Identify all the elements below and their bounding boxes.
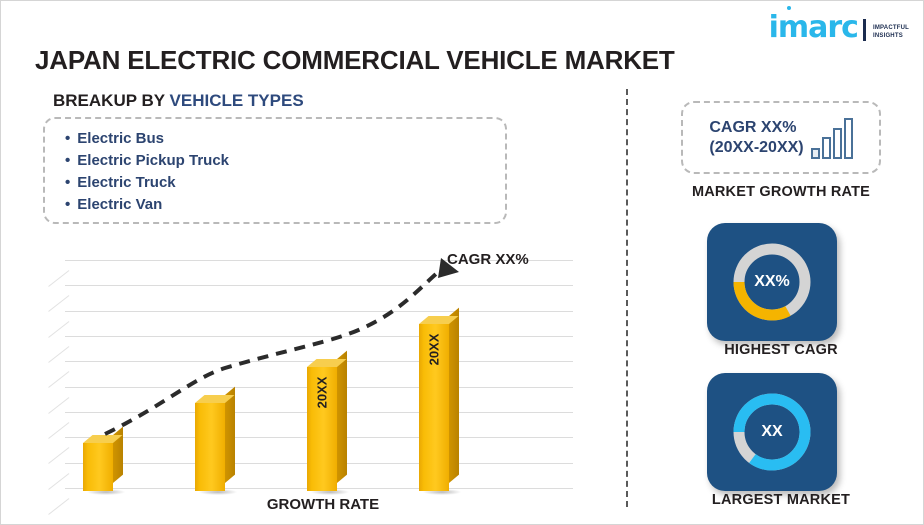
breakup-heading-plain: BREAKUP BY: [53, 91, 170, 110]
list-item: Electric Bus: [65, 128, 505, 150]
list-item: Electric Van: [65, 194, 505, 216]
page-title: JAPAN ELECTRIC COMMERCIAL VEHICLE MARKET: [35, 45, 675, 76]
logo-wordmark: imarc: [769, 13, 858, 43]
kpi-caption-largest-market: LARGEST MARKET: [649, 492, 913, 508]
imarc-logo: imarc IMPACTFUL INSIGHTS: [769, 13, 909, 43]
logo-tagline: IMPACTFUL INSIGHTS: [873, 24, 909, 43]
kpi-value: XX%: [729, 239, 815, 325]
logo-dot-icon: [787, 6, 791, 10]
vehicle-types-list: Electric Bus Electric Pickup Truck Elect…: [65, 128, 505, 216]
vertical-divider: [626, 89, 628, 507]
kpi-card-highest-cagr: XX%: [707, 223, 837, 341]
breakup-heading: BREAKUP BY VEHICLE TYPES: [53, 91, 304, 111]
kpi-card-largest-market: XX: [707, 373, 837, 491]
donut-chart-largest-market: XX: [729, 389, 815, 475]
kpi-value: XX: [729, 389, 815, 475]
cagr-value: CAGR XX%: [709, 118, 803, 138]
cagr-trend-label: CAGR XX%: [447, 251, 529, 268]
market-growth-rate-text: CAGR XX% (20XX-20XX): [709, 118, 803, 158]
market-growth-rate-caption: MARKET GROWTH RATE: [649, 184, 913, 200]
breakup-box: Electric Bus Electric Pickup Truck Elect…: [43, 117, 507, 224]
logo-divider-bar: [863, 19, 866, 41]
bar-chart-icon: [811, 117, 853, 159]
breakup-heading-accent: VEHICLE TYPES: [170, 91, 304, 110]
logo-tagline-line2: INSIGHTS: [873, 32, 909, 40]
market-growth-rate-box: CAGR XX% (20XX-20XX): [681, 101, 881, 174]
list-item: Electric Truck: [65, 172, 505, 194]
cagr-period: (20XX-20XX): [709, 138, 803, 158]
infographic-page: imarc IMPACTFUL INSIGHTS JAPAN ELECTRIC …: [0, 0, 924, 525]
logo-text: imarc: [769, 10, 858, 45]
trendline-svg: [43, 256, 603, 491]
kpi-caption-highest-cagr: HIGHEST CAGR: [649, 342, 913, 358]
growth-rate-axis-label: GROWTH RATE: [43, 496, 603, 513]
growth-rate-bar-chart: 20XX20XX CAGR XX% GROWTH RATE: [43, 256, 603, 491]
list-item: Electric Pickup Truck: [65, 150, 505, 172]
donut-chart-highest-cagr: XX%: [729, 239, 815, 325]
logo-tagline-line1: IMPACTFUL: [873, 24, 909, 32]
